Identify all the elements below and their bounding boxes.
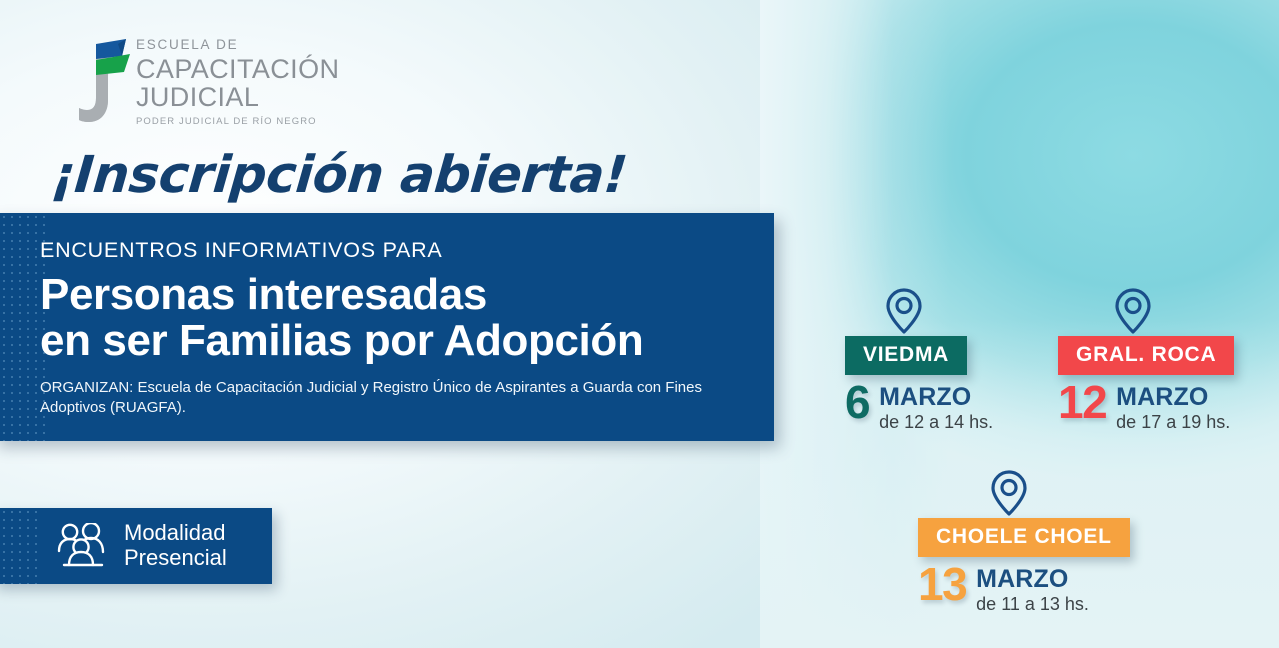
- location-card-choele-choel: CHOELE CHOEL 13 MARZO de 11 a 13 hs.: [918, 470, 1130, 615]
- modalidad-line-1: Modalidad: [124, 520, 226, 545]
- banner-title-line-2: en ser Familias por Adopción: [40, 316, 643, 365]
- modalidad-dot-pattern: [0, 508, 40, 584]
- group-of-people-icon: [56, 523, 110, 569]
- location-month-gral-roca: MARZO: [1116, 383, 1208, 411]
- main-banner: ENCUENTROS INFORMATIVOS PARA Personas in…: [0, 213, 774, 441]
- modalidad-label: Modalidad Presencial: [124, 521, 227, 571]
- map-pin-icon: [885, 288, 923, 334]
- location-day-viedma: 6: [845, 383, 869, 423]
- banner-title: Personas interesadas en ser Familias por…: [40, 272, 752, 365]
- location-badge-choele-choel: CHOELE CHOEL: [918, 518, 1130, 557]
- location-month-hours-viedma: MARZO de 12 a 14 hs.: [879, 383, 993, 433]
- script-headline: ¡Inscripción abierta!: [49, 146, 629, 205]
- logo-wordmark: ESCUELA DE CAPACITACIÓN JUDICIAL PODER J…: [136, 38, 339, 126]
- location-hours-gral-roca: de 17 a 19 hs.: [1116, 412, 1230, 433]
- location-day-choele-choel: 13: [918, 565, 966, 605]
- location-badge-gral-roca: GRAL. ROCA: [1058, 336, 1234, 375]
- location-date-viedma: 6 MARZO de 12 a 14 hs.: [845, 383, 993, 433]
- modalidad-badge: Modalidad Presencial: [0, 508, 272, 584]
- banner-organizers: ORGANIZAN: Escuela de Capacitación Judic…: [40, 378, 730, 418]
- location-card-gral-roca: GRAL. ROCA 12 MARZO de 17 a 19 hs.: [1058, 288, 1234, 433]
- map-pin-icon: [990, 470, 1028, 516]
- location-hours-viedma: de 12 a 14 hs.: [879, 412, 993, 433]
- escuela-capacitacion-judicial-logo-icon: [78, 36, 140, 132]
- location-month-viedma: MARZO: [879, 383, 971, 411]
- location-card-viedma: VIEDMA 6 MARZO de 12 a 14 hs.: [845, 288, 993, 433]
- location-month-hours-gral-roca: MARZO de 17 a 19 hs.: [1116, 383, 1230, 433]
- location-date-gral-roca: 12 MARZO de 17 a 19 hs.: [1058, 383, 1234, 433]
- logo-line-3: JUDICIAL: [136, 84, 339, 111]
- institution-logo: ESCUELA DE CAPACITACIÓN JUDICIAL PODER J…: [78, 36, 378, 134]
- banner-title-line-1: Personas interesadas: [40, 270, 487, 319]
- location-month-choele-choel: MARZO: [976, 565, 1068, 593]
- location-badge-viedma: VIEDMA: [845, 336, 967, 375]
- banner-content: ENCUENTROS INFORMATIVOS PARA Personas in…: [40, 239, 752, 417]
- banner-kicker: ENCUENTROS INFORMATIVOS PARA: [40, 239, 752, 263]
- location-day-gral-roca: 12: [1058, 383, 1106, 423]
- promo-poster: ESCUELA DE CAPACITACIÓN JUDICIAL PODER J…: [0, 0, 1279, 648]
- location-date-choele-choel: 13 MARZO de 11 a 13 hs.: [918, 565, 1130, 615]
- location-hours-choele-choel: de 11 a 13 hs.: [976, 594, 1089, 615]
- logo-line-2: CAPACITACIÓN: [136, 56, 339, 83]
- logo-line-4: PODER JUDICIAL DE RÍO NEGRO: [136, 117, 339, 127]
- logo-line-1: ESCUELA DE: [136, 38, 339, 52]
- location-month-hours-choele-choel: MARZO de 11 a 13 hs.: [976, 565, 1089, 615]
- map-pin-icon: [1114, 288, 1152, 334]
- modalidad-line-2: Presencial: [124, 545, 227, 570]
